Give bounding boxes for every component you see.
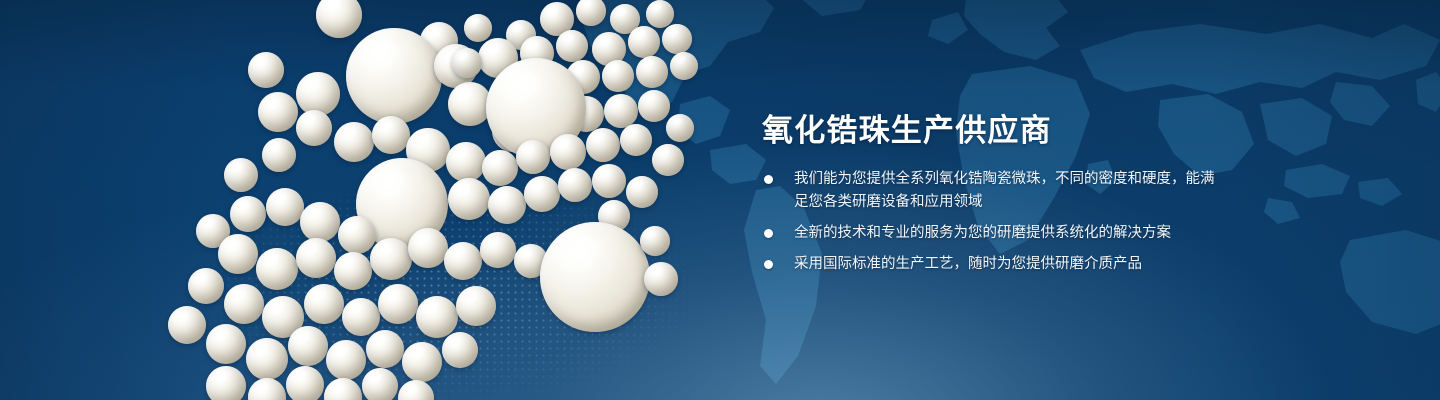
list-item-text: 我们能为您提供全系列氧化锆陶瓷微珠，不同的密度和硬度，能满足您各类研磨设备和应用…: [794, 171, 1215, 210]
list-item: 我们能为您提供全系列氧化锆陶瓷微珠，不同的密度和硬度，能满足您各类研磨设备和应用…: [764, 168, 1216, 214]
banner-content: 氧化锆珠生产供应商 我们能为您提供全系列氧化锆陶瓷微珠，不同的密度和硬度，能满足…: [762, 0, 1232, 400]
page-title: 氧化锆珠生产供应商: [762, 105, 1052, 150]
filled-circle-bullet-icon: [764, 175, 773, 184]
list-item: 全新的技术和专业的服务为您的研磨提供系统化的解决方案: [764, 222, 1216, 245]
list-item-text: 采用国际标准的生产工艺，随时为您提供研磨介质产品: [794, 256, 1142, 272]
list-item: 采用国际标准的生产工艺，随时为您提供研磨介质产品: [764, 253, 1216, 276]
filled-circle-bullet-icon: [764, 260, 773, 269]
filled-circle-bullet-icon: [764, 229, 773, 238]
hero-banner: 氧化锆珠生产供应商 我们能为您提供全系列氧化锆陶瓷微珠，不同的密度和硬度，能满足…: [0, 0, 1440, 400]
feature-list: 我们能为您提供全系列氧化锆陶瓷微珠，不同的密度和硬度，能满足您各类研磨设备和应用…: [764, 168, 1216, 276]
list-item-text: 全新的技术和专业的服务为您的研磨提供系统化的解决方案: [794, 225, 1171, 241]
